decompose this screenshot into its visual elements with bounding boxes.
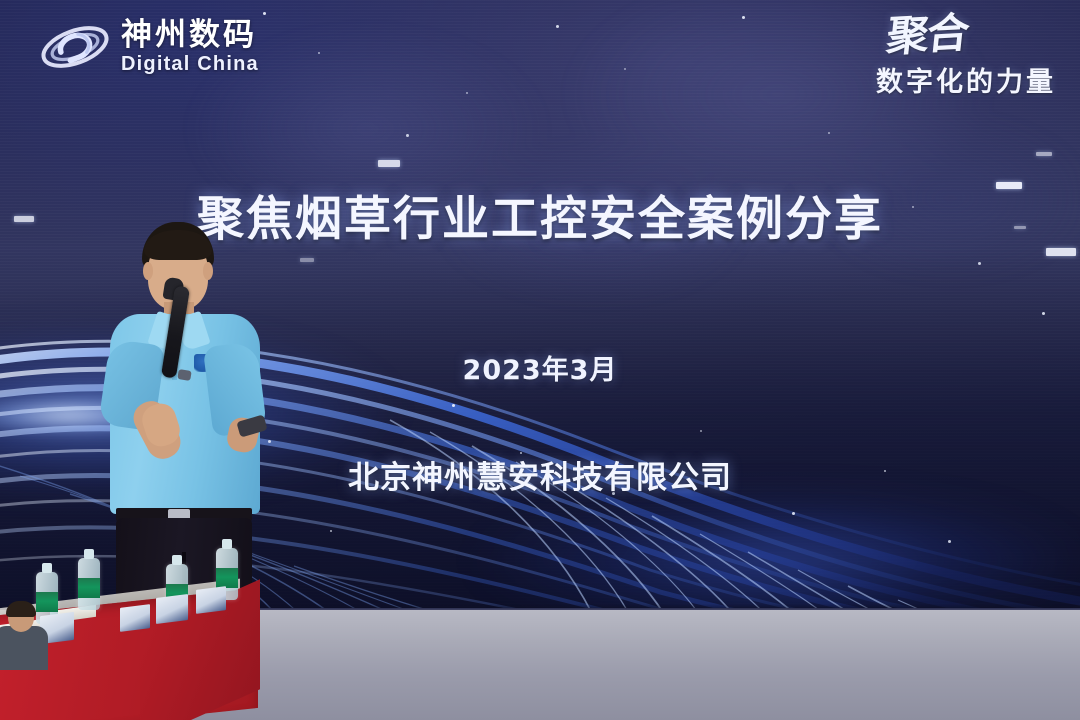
speaker-ear-right <box>203 262 213 280</box>
water-bottle <box>78 558 100 610</box>
speaker-person <box>96 222 286 622</box>
brand-logo: 神州数码 Digital China <box>38 16 259 78</box>
name-card <box>156 594 188 624</box>
brand-name-en: Digital China <box>121 54 259 74</box>
name-card <box>196 586 226 614</box>
seated-attendee-body <box>0 626 48 670</box>
stage-photo: 聚焦烟草行业工控安全案例分享 2023年3月 北京神州慧安科技有限公司 神州数码… <box>0 0 1080 720</box>
event-subtitle: 数字化的力量 <box>876 60 1056 99</box>
speaker-ear-left <box>143 262 153 280</box>
brand-text: 神州数码 Digital China <box>121 20 259 74</box>
microphone-base <box>177 369 191 381</box>
digital-china-swirl-logo-icon <box>38 16 112 78</box>
brand-name-cn: 神州数码 <box>121 20 259 52</box>
event-logo: 聚合 数字化的力量 <box>876 14 1056 99</box>
name-card <box>120 604 150 632</box>
seated-attendee-hair <box>6 601 36 617</box>
seated-attendee <box>0 604 48 670</box>
